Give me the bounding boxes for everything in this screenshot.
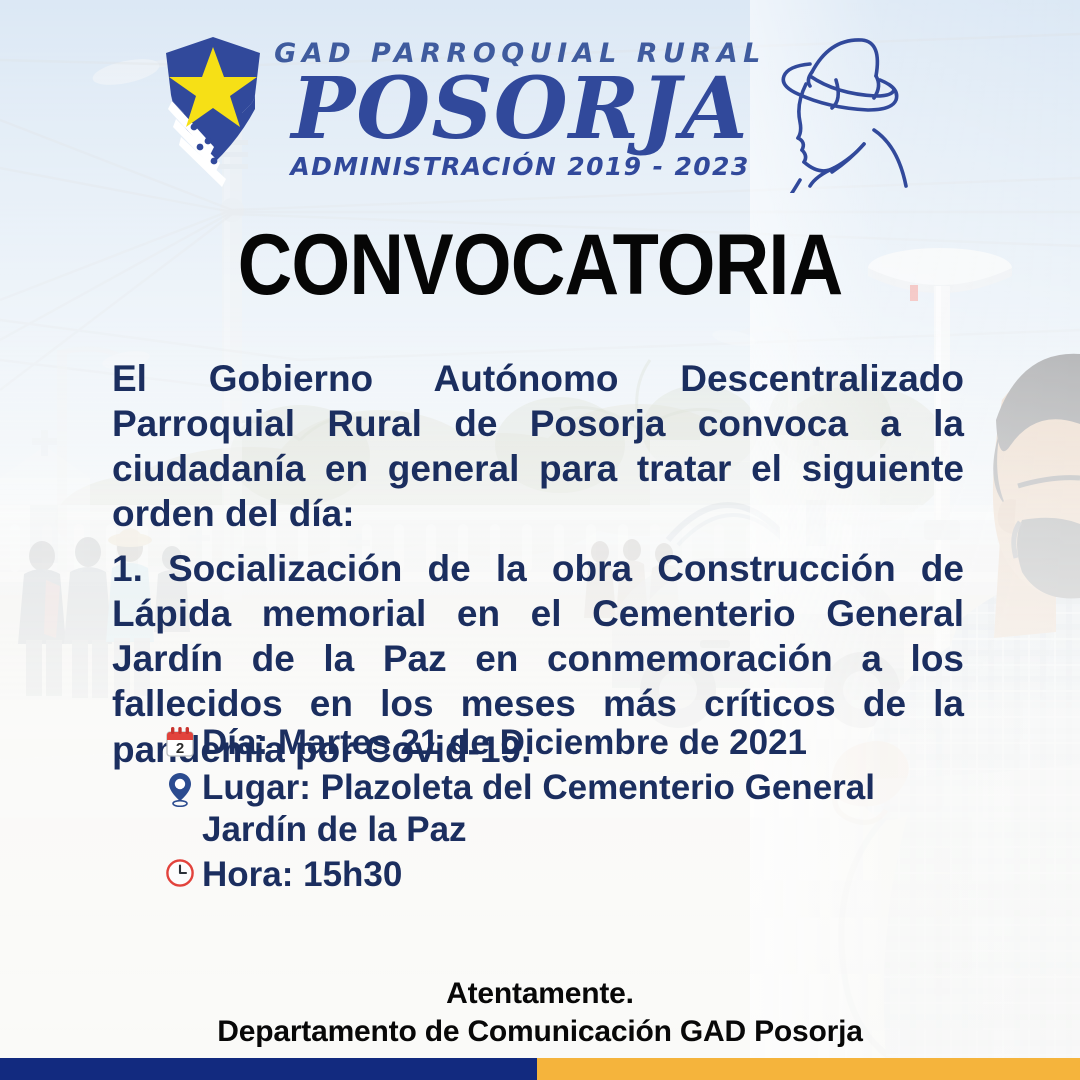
man-with-hat-profile-icon: [776, 28, 926, 193]
logo-line-3: ADMINISTRACIÓN 2019 - 2023: [290, 154, 749, 179]
detail-row-time: Hora: 15h30: [158, 854, 958, 897]
clock-icon: [158, 854, 202, 888]
event-details-list: 2 Día: Martes 21 de Diciembre de 2021 Lu…: [158, 722, 958, 899]
organization-logo: GAD PARROQUIAL RURAL POSORJA ADMINISTRAC…: [0, 26, 1080, 193]
calendar-icon: 2: [158, 722, 202, 758]
svg-text:2: 2: [176, 740, 184, 757]
bottom-bar-gold-segment: [537, 1058, 1080, 1080]
footer-line-1: Atentamente.: [0, 975, 1080, 1013]
intro-paragraph: El Gobierno Autónomo Descentralizado Par…: [112, 356, 964, 537]
poster-canvas: GAD PARROQUIAL RURAL POSORJA ADMINISTRAC…: [0, 0, 1080, 1080]
page-title: CONVOCATORIA: [65, 222, 1015, 308]
bottom-color-bar: [0, 1058, 1080, 1080]
footer-line-2: Departamento de Comunicación GAD Posorja: [0, 1013, 1080, 1051]
location-pin-icon: [158, 767, 202, 807]
footer-signature: Atentamente. Departamento de Comunicació…: [0, 975, 1080, 1050]
logo-line-2: POSORJA: [291, 69, 748, 150]
detail-row-location: Lugar: Plazoleta del Cementerio General …: [158, 767, 958, 852]
detail-row-date: 2 Día: Martes 21 de Diciembre de 2021: [158, 722, 958, 765]
detail-text-location: Lugar: Plazoleta del Cementerio General …: [202, 767, 958, 852]
bottom-bar-blue-segment: [0, 1058, 537, 1080]
shield-with-star-icon: [154, 35, 272, 190]
detail-text-date: Día: Martes 21 de Diciembre de 2021: [202, 722, 958, 765]
detail-text-time: Hora: 15h30: [202, 854, 958, 897]
